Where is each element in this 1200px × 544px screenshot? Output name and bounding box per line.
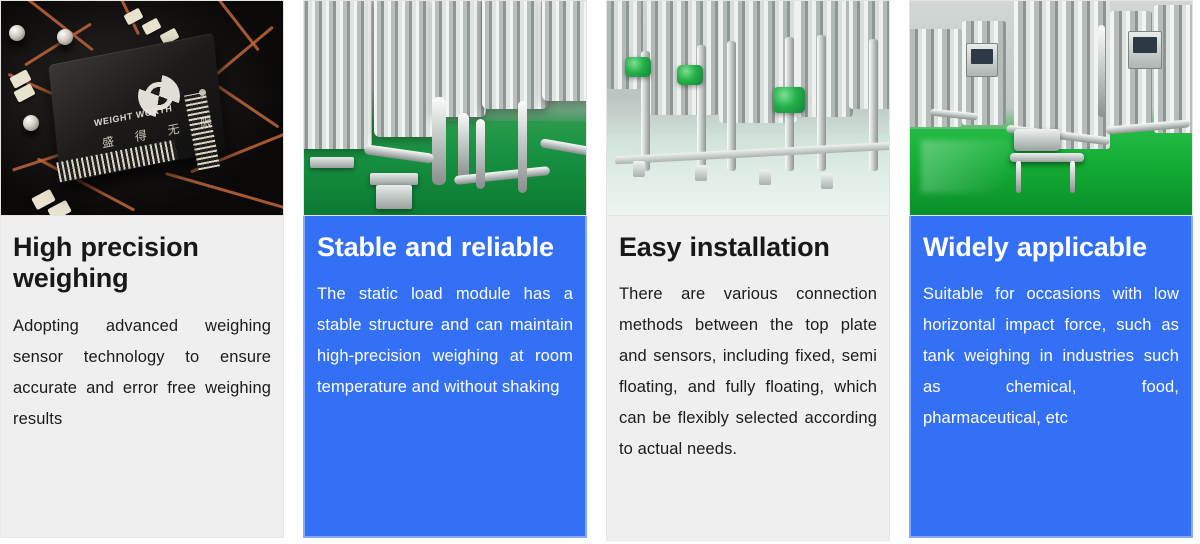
tanks-green-valves-photo	[606, 0, 890, 216]
tanks-valves-scene	[607, 1, 889, 215]
card-title: High precision weighing	[13, 232, 271, 295]
feature-card-widely-applicable[interactable]: Widely applicable Suitable for occasions…	[909, 0, 1193, 538]
card-body: High precision weighing Adopting advance…	[0, 216, 284, 538]
card-description: Adopting advanced weighing sensor techno…	[13, 311, 271, 435]
card-body: Widely applicable Suitable for occasions…	[909, 216, 1193, 538]
card-description: Suitable for occasions with low horizont…	[923, 279, 1179, 434]
card-title: Easy installation	[619, 232, 877, 263]
card-title: Stable and reliable	[317, 232, 573, 263]
circuit-board-chip-photo: WEIGHT WORTH 盛 得 无 限	[0, 0, 284, 216]
feature-card-high-precision-weighing[interactable]: WEIGHT WORTH 盛 得 无 限 High precision weig…	[0, 0, 284, 538]
card-title: Widely applicable	[923, 232, 1179, 263]
stainless-tanks-green-floor-photo	[303, 0, 587, 216]
card-body: Easy installation There are various conn…	[606, 216, 890, 541]
tanks-scene	[304, 1, 586, 215]
pcb-scene: WEIGHT WORTH 盛 得 无 限	[1, 1, 283, 215]
feature-card-easy-installation[interactable]: Easy installation There are various conn…	[606, 0, 890, 541]
tanks-panels-scene	[910, 1, 1192, 215]
feature-card-grid: WEIGHT WORTH 盛 得 无 限 High precision weig…	[0, 0, 1200, 544]
card-description: There are various connection methods bet…	[619, 279, 877, 465]
card-body: Stable and reliable The static load modu…	[303, 216, 587, 538]
card-description: The static load module has a stable stru…	[317, 279, 573, 403]
tanks-control-panels-photo	[909, 0, 1193, 216]
feature-card-stable-and-reliable[interactable]: Stable and reliable The static load modu…	[303, 0, 587, 538]
